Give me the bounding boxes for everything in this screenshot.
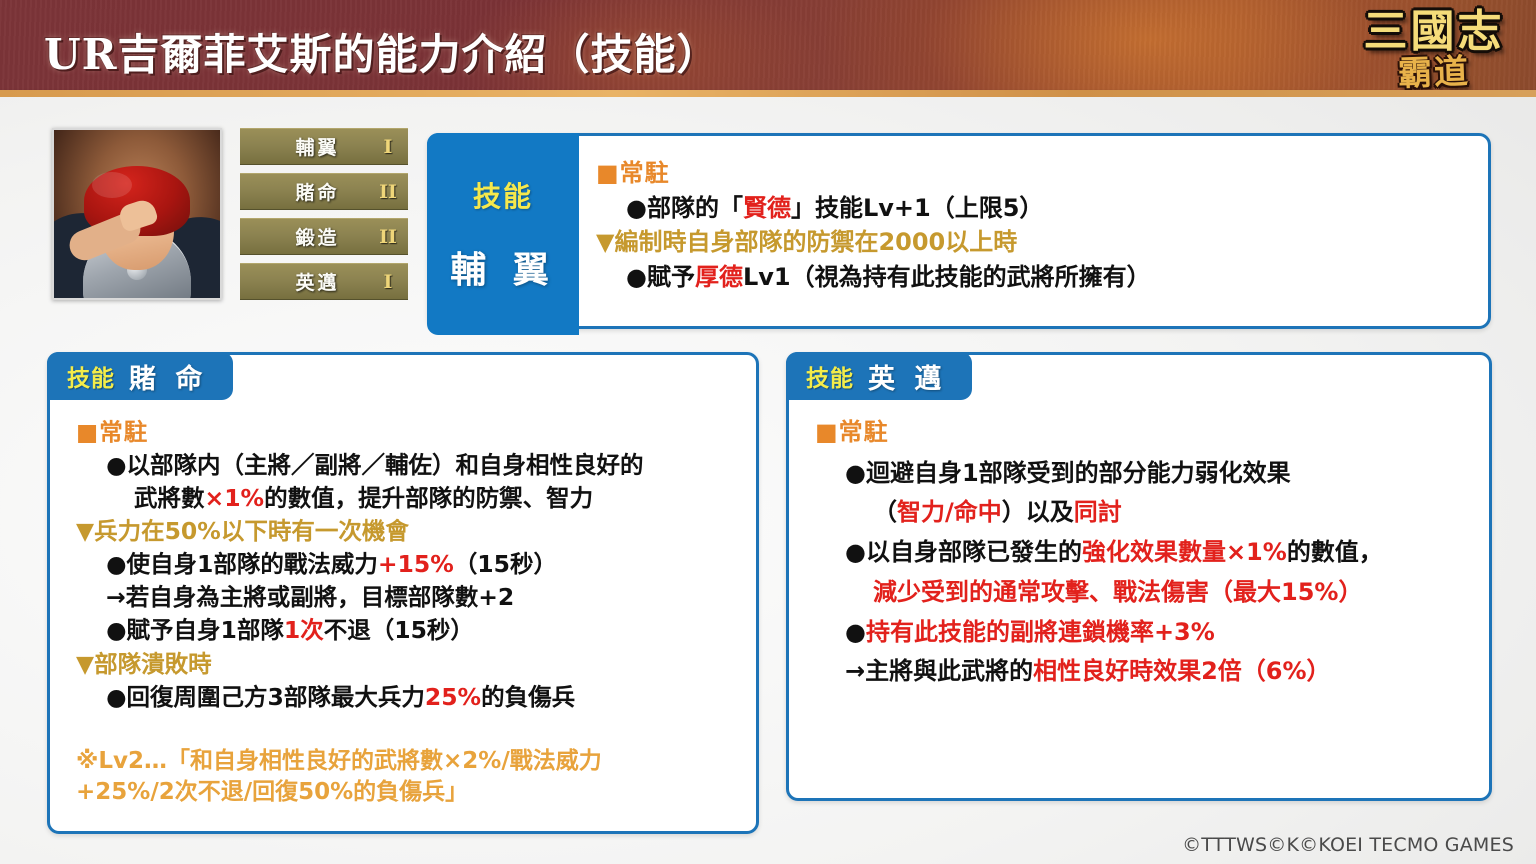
text-fragment: 的數值， — [1287, 538, 1383, 566]
text-highlight: 同討 — [1074, 498, 1122, 526]
text-fragment: （15秒） — [454, 550, 557, 578]
skill-card-fuyi-body: ■常駐 ●部隊的「賢德」技能Lv+1（上限5） ▼編制時自身部隊的防禦在2000… — [596, 158, 1476, 293]
skill-effect-line: ●以部隊内（主將／副將／輔佐）和自身相性良好的 — [76, 450, 738, 480]
skill-list-item-level: I — [377, 271, 399, 293]
text-highlight: 相性良好時效果2倍（6%） — [1033, 657, 1330, 685]
skill-card-duming: 技能 賭 命 ■常駐 ●以部隊内（主將／副將／輔佐）和自身相性良好的 武將數×1… — [47, 352, 759, 834]
skill-effect-line: 減少受到的通常攻擊、戰法傷害（最大15%） — [815, 577, 1471, 608]
skill-effect-line: →主將與此武將的相性良好時效果2倍（6%） — [815, 656, 1471, 687]
text-highlight: ×1% — [205, 484, 265, 512]
text-fragment: ●賦予 — [626, 263, 695, 291]
skill-level-note-line2: +25%/2次不退/回復50%的負傷兵」 — [76, 777, 738, 808]
text-fragment: ●賦予自身1部隊 — [106, 616, 284, 644]
text-fragment: Lv1（視為持有此技能的武將所擁有） — [743, 263, 1151, 291]
skill-list-item-name: 賭命 — [240, 178, 377, 205]
text-fragment: 的數值，提升部隊的防禦、智力 — [264, 484, 593, 512]
skill-condition-line: ▼部隊潰敗時 — [76, 649, 738, 679]
text-fragment: →主將與此武將的 — [845, 657, 1033, 685]
text-highlight: 賢德 — [743, 194, 791, 222]
text-fragment: 不退（15秒） — [324, 616, 474, 644]
skill-name-label: 賭 命 — [129, 357, 207, 396]
skill-card-yingmai-tab: 技能 英 邁 — [786, 352, 972, 400]
skill-effect-line: ●賦予厚德Lv1（視為持有此技能的武將所擁有） — [596, 262, 1476, 293]
skill-list-item[interactable]: 輔翼 I — [240, 128, 408, 165]
skill-card-duming-body: ■常駐 ●以部隊内（主將／副將／輔佐）和自身相性良好的 武將數×1%的數值，提升… — [76, 417, 738, 808]
skill-kind-label: 技能 — [67, 359, 115, 393]
skill-kind-label: 技能 — [806, 359, 854, 393]
skill-effect-line: ●部隊的「賢德」技能Lv+1（上限5） — [596, 193, 1476, 224]
text-fragment: 武將數 — [134, 484, 205, 512]
skill-card-fuyi: 技能 輔 翼 ■常駐 ●部隊的「賢德」技能Lv+1（上限5） ▼編制時自身部隊的… — [427, 133, 1491, 329]
skill-name-label: 輔 翼 — [450, 241, 556, 293]
skill-list-item-name: 輔翼 — [240, 133, 377, 160]
text-fragment: ●部隊的「 — [626, 194, 743, 222]
skill-list-item[interactable]: 英邁 I — [240, 263, 408, 300]
skill-level-note-line1: ※Lv2…「和自身相性良好的武將數×2%/戰法威力 — [76, 746, 738, 777]
skill-list-item[interactable]: 賭命 II — [240, 173, 408, 210]
skill-effect-line: （智力/命中）以及同討 — [815, 497, 1471, 528]
text-fragment: ）以及 — [1002, 498, 1074, 526]
text-fragment: （ — [873, 498, 897, 526]
skill-condition-line: ▼編制時自身部隊的防禦在2000以上時 — [596, 227, 1476, 258]
skill-condition-line: ▼兵力在50%以下時有一次機會 — [76, 516, 738, 546]
skill-kind-label: 技能 — [473, 175, 533, 215]
text-highlight: +15% — [378, 550, 454, 578]
skill-effect-line: ●迴避自身1部隊受到的部分能力弱化效果 — [815, 458, 1471, 489]
skill-effect-line: ●持有此技能的副將連鎖機率+3% — [815, 617, 1471, 648]
skill-section-heading: ■常駐 — [596, 158, 1476, 189]
text-fragment: 的負傷兵 — [481, 683, 575, 711]
skill-card-fuyi-label: 技能 輔 翼 — [427, 133, 579, 335]
game-logo: 三國志 霸道 — [1344, 2, 1524, 97]
text-fragment: ●使自身1部隊的戰法威力 — [106, 550, 378, 578]
text-highlight: 厚德 — [695, 263, 743, 291]
skill-section-heading: ■常駐 — [815, 417, 1471, 448]
skill-list-item-name: 英邁 — [240, 268, 377, 295]
text-fragment: ●以自身部隊已發生的 — [845, 538, 1082, 566]
game-logo-main: 三國志 — [1344, 10, 1524, 54]
text-highlight: 強化效果數量×1% — [1082, 538, 1287, 566]
skill-list-item[interactable]: 鍛造 II — [240, 218, 408, 255]
text-highlight: 1次 — [284, 616, 324, 644]
text-fragment: 」技能Lv+1（上限5） — [791, 194, 1043, 222]
text-fragment: ●回復周圍己方3部隊最大兵力 — [106, 683, 425, 711]
text-highlight: 持有此技能的副將連鎖機率+3% — [866, 618, 1215, 646]
text-highlight: 25% — [425, 683, 481, 711]
skill-list-item-name: 鍛造 — [240, 223, 377, 250]
skill-level-list: 輔翼 I 賭命 II 鍛造 II 英邁 I — [240, 128, 408, 300]
skill-section-heading: ■常駐 — [76, 417, 738, 447]
skill-list-item-level: II — [377, 181, 399, 203]
skill-effect-line: ●賦予自身1部隊1次不退（15秒） — [76, 615, 738, 645]
skill-list-item-level: I — [377, 136, 399, 158]
skill-effect-line: 武將數×1%的數值，提升部隊的防禦、智力 — [76, 483, 738, 513]
skill-card-duming-tab: 技能 賭 命 — [47, 352, 233, 400]
copyright-notice: ©TTTWS©K©KOEI TECMO GAMES — [1182, 834, 1514, 856]
page-title: UR吉爾菲艾斯的能力介紹（技能） — [44, 21, 720, 82]
text-highlight: 智力/命中 — [897, 498, 1002, 526]
character-portrait — [52, 128, 222, 300]
game-logo-sub: 霸道 — [1343, 53, 1524, 93]
skill-effect-line: ●使自身1部隊的戰法威力+15%（15秒） — [76, 549, 738, 579]
skill-effect-line: ●回復周圍己方3部隊最大兵力25%的負傷兵 — [76, 682, 738, 712]
page-header: UR吉爾菲艾斯的能力介紹（技能） 三國志 霸道 — [0, 0, 1536, 97]
skill-card-yingmai: 技能 英 邁 ■常駐 ●迴避自身1部隊受到的部分能力弱化效果 （智力/命中）以及… — [786, 352, 1492, 801]
skill-name-label: 英 邁 — [868, 357, 946, 396]
skill-list-item-level: II — [377, 226, 399, 248]
skill-effect-line: ●以自身部隊已發生的強化效果數量×1%的數值， — [815, 537, 1471, 568]
skill-effect-line: →若自身為主將或副將，目標部隊數+2 — [76, 582, 738, 612]
skill-card-yingmai-body: ■常駐 ●迴避自身1部隊受到的部分能力弱化效果 （智力/命中）以及同討 ●以自身… — [815, 417, 1471, 687]
